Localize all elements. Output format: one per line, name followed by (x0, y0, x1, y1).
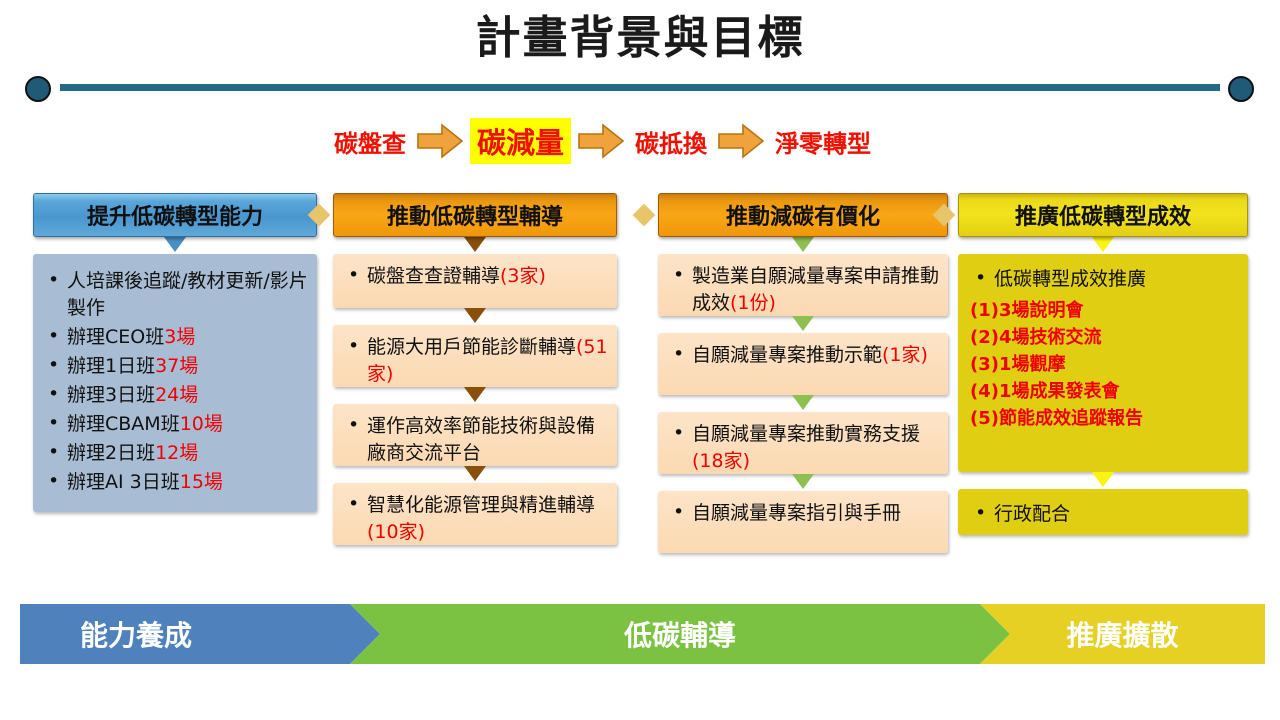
sub-item: (3)1場觀摩 (970, 351, 1238, 378)
phase-chevron-1[interactable]: 低碳輔導 (350, 604, 1010, 664)
count-value: (3家) (500, 265, 546, 287)
count-value: 12場 (155, 442, 198, 464)
column-arrow-gap-0 (33, 237, 317, 254)
columns-container: 提升低碳轉型能力 人培課後追蹤/教材更新/影片製作 辦理CEO班3場 辦理1日班… (0, 193, 1280, 568)
column-header-0[interactable]: 提升低碳轉型能力 (33, 193, 317, 237)
phase-chevron-bar: 能力養成 低碳輔導 推廣擴散 (20, 604, 1265, 664)
page-title: 計畫背景與目標 (0, 6, 1280, 70)
phase-chevron-2[interactable]: 推廣擴散 (980, 604, 1265, 664)
list-item: 運作高效率節能技術與設備廠商交流平台 (367, 413, 609, 467)
flow-step-0: 碳盤查 (330, 123, 410, 160)
panel-arrow-gap-1-1 (333, 387, 617, 404)
list-item: 自願減量專案推動實務支援(18家) (692, 421, 940, 475)
flow-step-3: 淨零轉型 (771, 123, 875, 160)
arrow-down-icon-1-0 (464, 308, 486, 323)
panel-2-2[interactable]: 自願減量專案推動實務支援(18家) (658, 412, 948, 474)
phase-label-1: 低碳輔導 (350, 614, 1010, 654)
count-value: 10場 (180, 413, 223, 435)
column-header-1[interactable]: 推動低碳轉型輔導 (333, 193, 617, 237)
divider-line (60, 84, 1220, 91)
column-header-label-1: 推動低碳轉型輔導 (387, 199, 563, 231)
column-guidance: 推動低碳轉型輔導 碳盤查查證輔導(3家) 能源大用戶節能診斷輔導(51家) 運作… (333, 193, 617, 545)
panel-arrow-gap-1-2 (333, 466, 617, 483)
column-header-label-2: 推動減碳有價化 (726, 199, 880, 231)
list-item: 辦理3日班24場 (67, 382, 309, 409)
panel-arrow-gap-1-0 (333, 308, 617, 325)
title-divider (0, 72, 1280, 106)
column-header-3[interactable]: 推廣低碳轉型成效 (958, 193, 1248, 237)
panel-arrow-gap-3-0 (958, 472, 1248, 489)
list-item: 自願減量專案指引與手冊 (692, 500, 940, 527)
panel-2-3[interactable]: 自願減量專案指引與手冊 (658, 491, 948, 553)
sub-item: (4)1場成果發表會 (970, 378, 1238, 405)
panel-1-3[interactable]: 智慧化能源管理與精進輔導(10家) (333, 483, 617, 545)
arrow-down-icon-0 (164, 237, 186, 252)
phase-label-0: 能力養成 (20, 614, 192, 654)
panel-3-1[interactable]: 行政配合 (958, 489, 1248, 535)
count-value: (1家) (882, 344, 928, 366)
count-value: 3場 (164, 326, 195, 348)
panel-2-1[interactable]: 自願減量專案推動示範(1家) (658, 333, 948, 395)
arrow-down-icon-2 (792, 237, 814, 252)
phase-chevron-0[interactable]: 能力養成 (20, 604, 380, 664)
count-value: 37場 (155, 355, 198, 377)
panel-3-0[interactable]: 低碳轉型成效推廣 (1)3場說明會 (2)4場技術交流 (3)1場觀摩 (4)1… (958, 254, 1248, 472)
column-capability: 提升低碳轉型能力 人培課後追蹤/教材更新/影片製作 辦理CEO班3場 辦理1日班… (33, 193, 317, 512)
arrow-down-icon-3 (1092, 237, 1114, 252)
list-item: 自願減量專案推動示範(1家) (692, 342, 940, 369)
list-item: 能源大用戶節能診斷輔導(51家) (367, 334, 609, 388)
panel-0-0[interactable]: 人培課後追蹤/教材更新/影片製作 辦理CEO班3場 辦理1日班37場 辦理3日班… (33, 254, 317, 512)
flow-arrow-right-icon-1 (578, 123, 624, 159)
panel-1-2[interactable]: 運作高效率節能技術與設備廠商交流平台 (333, 404, 617, 466)
column-header-label-3: 推廣低碳轉型成效 (1015, 199, 1191, 231)
separator-diamond-icon-1 (633, 204, 656, 227)
count-value: (18家) (692, 450, 750, 472)
list-item: 辦理CBAM班10場 (67, 411, 309, 438)
column-arrow-gap-3 (958, 237, 1248, 254)
bullet-list-0-0: 人培課後追蹤/教材更新/影片製作 辦理CEO班3場 辦理1日班37場 辦理3日班… (41, 268, 309, 496)
list-item: 人培課後追蹤/教材更新/影片製作 (67, 268, 309, 322)
sub-item: (5)節能成效追蹤報告 (970, 405, 1238, 432)
list-item: 辦理1日班37場 (67, 353, 309, 380)
arrow-down-icon-1 (464, 237, 486, 252)
list-item: 智慧化能源管理與精進輔導(10家) (367, 492, 609, 546)
panel-1-1[interactable]: 能源大用戶節能診斷輔導(51家) (333, 325, 617, 387)
arrow-down-icon-1-1 (464, 387, 486, 402)
count-value: (10家) (367, 521, 425, 543)
arrow-down-icon-1-2 (464, 466, 486, 481)
title-bar: 計畫背景與目標 (0, 6, 1280, 74)
panel-arrow-gap-2-1 (658, 395, 948, 412)
phase-label-2: 推廣擴散 (980, 614, 1265, 654)
panel-arrow-gap-2-2 (658, 474, 948, 491)
flow-step-1: 碳減量 (470, 118, 571, 164)
list-item: 低碳轉型成效推廣 (994, 266, 1238, 293)
flow-arrow-right-icon-0 (417, 123, 463, 159)
list-item: 辦理2日班12場 (67, 440, 309, 467)
list-item: 製造業自願減量專案申請推動成效(1份) (692, 263, 940, 317)
divider-dot-left-icon (25, 76, 51, 102)
panel-arrow-gap-2-0 (658, 316, 948, 333)
panel-1-0[interactable]: 碳盤查查證輔導(3家) (333, 254, 617, 308)
panel-2-0[interactable]: 製造業自願減量專案申請推動成效(1份) (658, 254, 948, 316)
sub-item: (2)4場技術交流 (970, 324, 1238, 351)
column-arrow-gap-2 (658, 237, 948, 254)
column-carbon-pricing: 推動減碳有價化 製造業自願減量專案申請推動成效(1份) 自願減量專案推動示範(1… (658, 193, 948, 553)
count-value: 15場 (180, 471, 223, 493)
column-promotion: 推廣低碳轉型成效 低碳轉型成效推廣 (1)3場說明會 (2)4場技術交流 (3)… (958, 193, 1248, 535)
flow-arrow-right-icon-2 (718, 123, 764, 159)
arrow-down-icon-2-2 (792, 474, 814, 489)
column-arrow-gap-1 (333, 237, 617, 254)
arrow-down-icon-2-0 (792, 316, 814, 331)
list-item: 碳盤查查證輔導(3家) (367, 263, 609, 290)
carbon-flow-strip: 碳盤查 碳減量 碳抵換 淨零轉型 (330, 115, 980, 167)
count-value: (1份) (730, 292, 776, 314)
count-value: 24場 (155, 384, 198, 406)
column-header-label-0: 提升低碳轉型能力 (87, 199, 263, 231)
arrow-down-icon-3-0 (1092, 472, 1114, 487)
column-header-2[interactable]: 推動減碳有價化 (658, 193, 948, 237)
divider-dot-right-icon (1228, 76, 1254, 102)
arrow-down-icon-2-1 (792, 395, 814, 410)
list-item: 辦理AI 3日班15場 (67, 469, 309, 496)
sub-item: (1)3場說明會 (970, 297, 1238, 324)
list-item: 行政配合 (994, 501, 1238, 528)
list-item: 辦理CEO班3場 (67, 324, 309, 351)
flow-step-2: 碳抵換 (631, 123, 711, 160)
